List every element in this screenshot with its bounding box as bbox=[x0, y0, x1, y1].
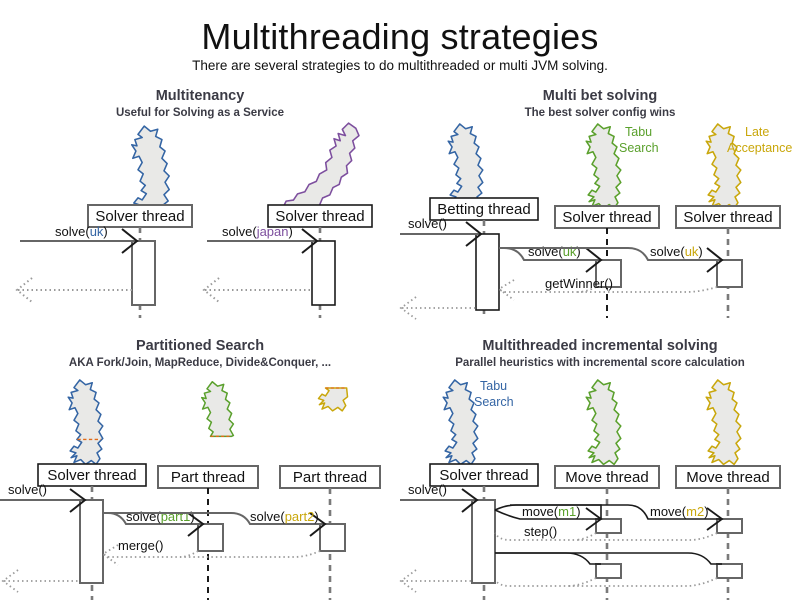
uk-map-gold bbox=[706, 380, 741, 464]
lifeline-label: Move thread bbox=[565, 469, 648, 486]
quadrant-multi-bet-solving: Multi bet solving The best solver config… bbox=[400, 88, 800, 343]
lifeline-label: Part thread bbox=[171, 469, 245, 486]
map-label-late-acceptance: Late bbox=[745, 125, 769, 139]
map-label-tabu-search: Tabu bbox=[480, 379, 507, 393]
uk-map bbox=[132, 126, 169, 218]
uk-map-green bbox=[586, 380, 621, 464]
message-label: solve(part1) bbox=[126, 509, 195, 524]
lifeline-label: Solver thread bbox=[275, 208, 364, 225]
uk-map-gold bbox=[706, 124, 741, 208]
message-label: solve(japan) bbox=[222, 224, 293, 239]
message-label: getWinner() bbox=[545, 276, 613, 291]
lifeline-move-thread-2: Move thread bbox=[676, 466, 780, 600]
svg-text:Acceptance: Acceptance bbox=[727, 141, 792, 155]
svg-text:Search: Search bbox=[619, 141, 659, 155]
sequence-diagram-partitioned: Solver thread solve() Part thread solve(… bbox=[0, 338, 400, 600]
uk-map-blue bbox=[443, 380, 478, 464]
message-label: solve() bbox=[408, 216, 447, 231]
lifeline-label: Part thread bbox=[293, 469, 367, 486]
message-label: solve(part2) bbox=[250, 509, 319, 524]
lifeline-solver-thread-tabu: Solver thread bbox=[555, 206, 659, 318]
message-label: solve(uk) bbox=[528, 244, 581, 259]
lifeline-label: Betting thread bbox=[437, 201, 530, 218]
return-arrow-solve bbox=[401, 570, 472, 592]
return-arrow-solve bbox=[3, 570, 80, 592]
return-arrow-bet bbox=[401, 297, 476, 319]
sequence-diagram-incremental: Tabu Search Solver thread solve() bbox=[400, 338, 800, 600]
uk-part-top-green bbox=[202, 382, 234, 437]
lifeline-solver-thread-japan: Solver thread bbox=[268, 205, 372, 318]
uk-map-green bbox=[586, 124, 621, 208]
lifeline-label: Move thread bbox=[686, 469, 769, 486]
page-subtitle: There are several strategies to do multi… bbox=[0, 58, 800, 73]
lifeline-label: Solver thread bbox=[95, 208, 184, 225]
quadrant-multithreaded-incremental: Multithreaded incremental solving Parall… bbox=[400, 338, 800, 593]
return-arrow-japan bbox=[204, 278, 312, 302]
message-label: step() bbox=[524, 524, 557, 539]
page-title: Multithreading strategies bbox=[0, 16, 800, 58]
lifeline-label: Solver thread bbox=[683, 209, 772, 226]
sequence-diagram-multitenancy: Solver thread solve(uk) Solver thread bbox=[0, 88, 400, 318]
uk-part-bottom-gold bbox=[318, 388, 347, 411]
map-label-tabu-search: Tabu bbox=[625, 125, 652, 139]
quadrant-partitioned-search: Partitioned Search AKA Fork/Join, MapRed… bbox=[0, 338, 400, 593]
uk-map-split-blue bbox=[68, 380, 103, 464]
message-move-round2 bbox=[495, 553, 722, 564]
lifeline-part-thread-2: Part thread bbox=[280, 466, 380, 600]
lifeline-solver-thread-uk: Solver thread bbox=[88, 205, 192, 318]
slide-canvas: Multithreading strategies There are seve… bbox=[0, 0, 800, 600]
svg-text:Search: Search bbox=[474, 395, 514, 409]
sequence-diagram-multi-bet: Tabu Search Late Acceptance Betting thre… bbox=[400, 88, 800, 318]
message-solve-uk: solve(uk) bbox=[20, 224, 137, 253]
message-solve-japan: solve(japan) bbox=[207, 224, 317, 253]
message-label: solve(uk) bbox=[55, 224, 108, 239]
message-label: merge() bbox=[118, 538, 164, 553]
lifeline-solver-thread-late: Solver thread bbox=[676, 206, 780, 318]
return-arrow-uk bbox=[17, 278, 132, 302]
message-label: move(m1) bbox=[522, 504, 581, 519]
lifeline-part-thread-1: Part thread bbox=[158, 466, 258, 600]
message-label: solve(uk) bbox=[650, 244, 703, 259]
lifeline-move-thread-1: Move thread bbox=[555, 466, 659, 600]
lifeline-label: Solver thread bbox=[562, 209, 651, 226]
message-label: solve() bbox=[8, 482, 47, 497]
message-label: solve() bbox=[408, 482, 447, 497]
message-label: move(m2) bbox=[650, 504, 709, 519]
quadrant-multitenancy: Multitenancy Useful for Solving as a Ser… bbox=[0, 88, 400, 343]
lifeline-label: Solver thread bbox=[47, 467, 136, 484]
uk-map-blue bbox=[448, 124, 483, 208]
lifeline-solver-thread: Solver thread bbox=[38, 464, 146, 600]
japan-map bbox=[283, 123, 359, 217]
lifeline-label: Solver thread bbox=[439, 467, 528, 484]
